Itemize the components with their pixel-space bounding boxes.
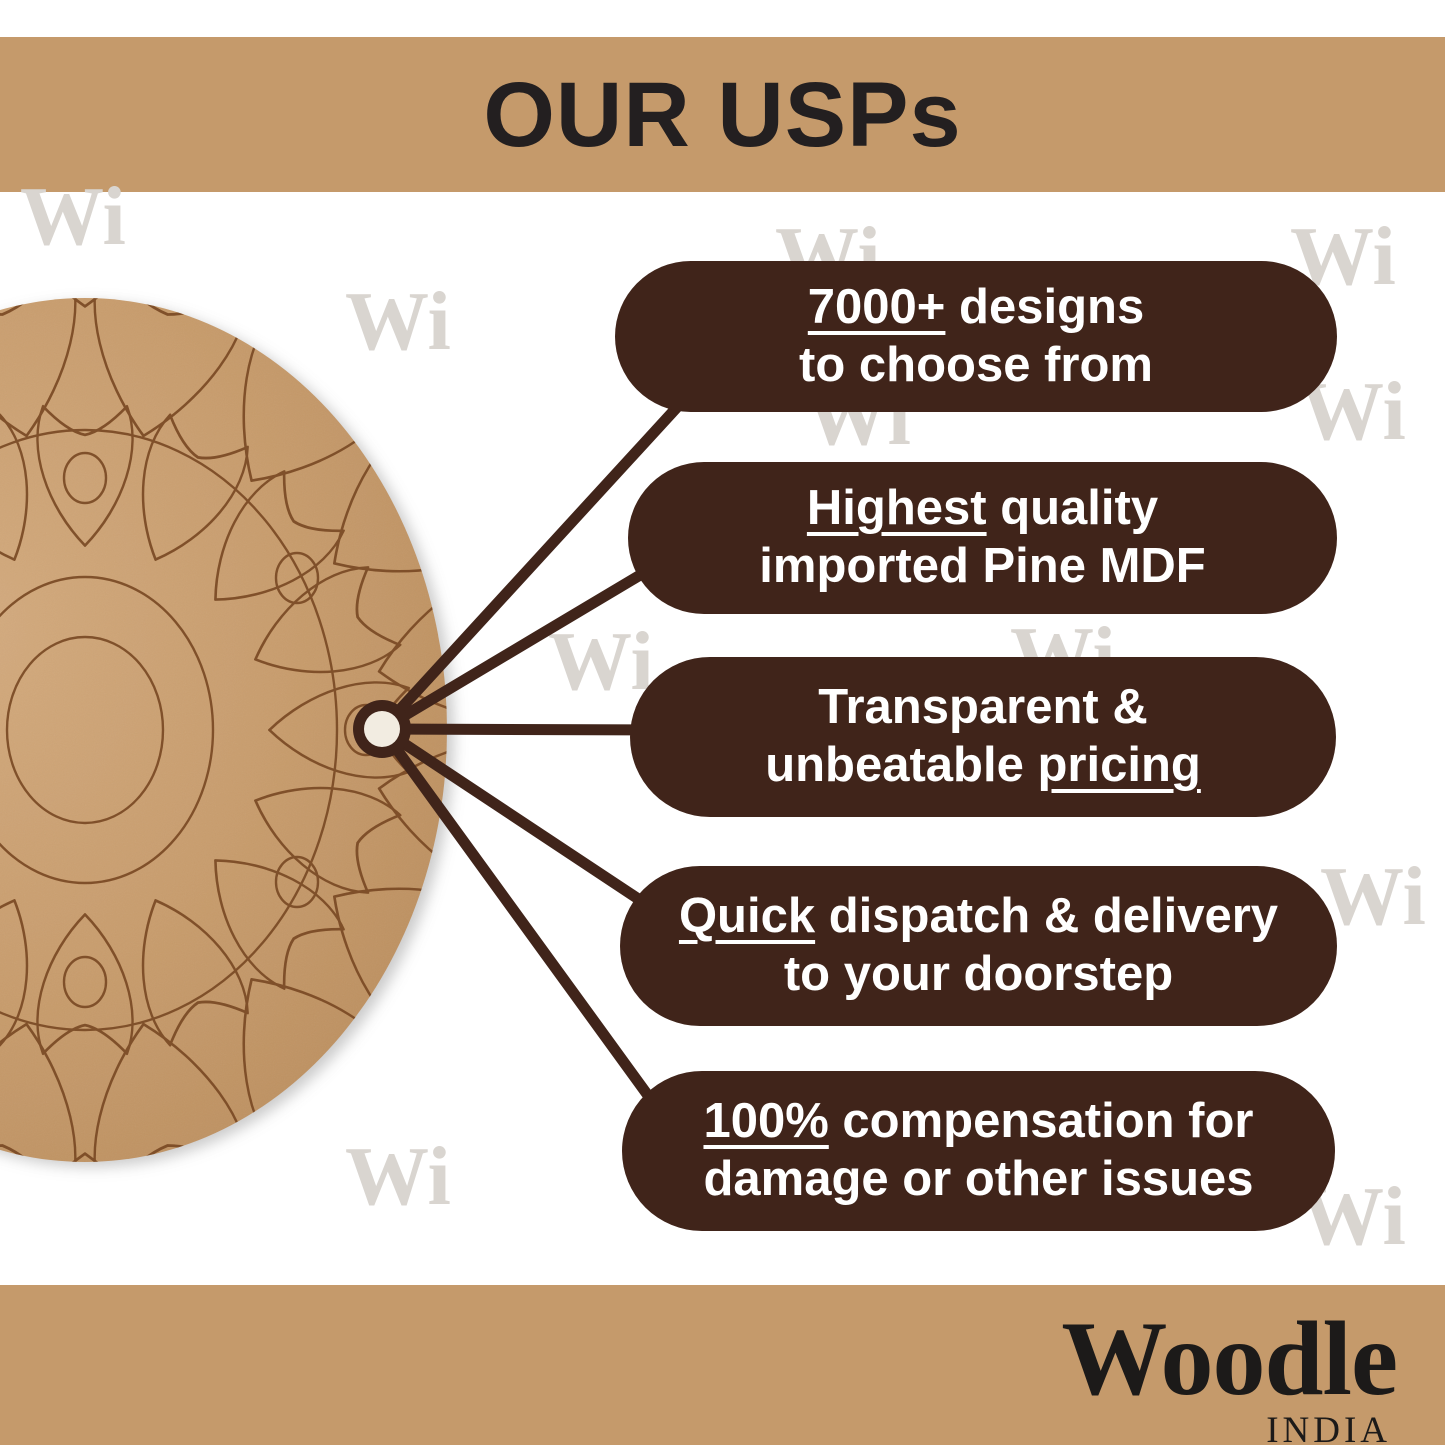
usp-pill-line: 7000+ designs [808,279,1144,337]
usp-pill-line: imported Pine MDF [759,538,1205,596]
usp-text: imported Pine MDF [759,539,1205,593]
usp-text: to choose from [799,338,1153,392]
usp-infographic: WiWiWiWiWiWiWiWiWiWiWiWi [0,0,1445,1445]
usp-pill-line: to your doorstep [784,946,1173,1004]
usp-pill-pricing[interactable]: Transparent &unbeatable pricing [630,657,1336,817]
usp-highlight-text: 100% [703,1094,828,1148]
brand-logo: Woodle INDIA [1061,1308,1397,1445]
usp-pill-line: Highest quality [807,480,1158,538]
usp-highlight-text: 7000+ [808,280,946,334]
usp-pill-line: Quick dispatch & delivery [679,888,1278,946]
usp-highlight-text: pricing [1037,738,1200,792]
usp-pill-list: 7000+ designsto choose fromHighest quali… [0,0,1445,1445]
usp-pill-line: Transparent & [818,679,1147,737]
usp-pill-line: to choose from [799,337,1153,395]
usp-pill-compensation[interactable]: 100% compensation fordamage or other iss… [622,1071,1335,1231]
usp-pill-designs[interactable]: 7000+ designsto choose from [615,261,1337,412]
usp-highlight-text: Highest [807,481,987,535]
usp-text: Transparent & [818,680,1147,734]
usp-text: dispatch & delivery [815,889,1278,943]
usp-pill-line: damage or other issues [703,1151,1253,1209]
usp-pill-line: 100% compensation for [703,1093,1253,1151]
usp-pill-line: unbeatable pricing [765,737,1201,795]
usp-pill-dispatch[interactable]: Quick dispatch & deliveryto your doorste… [620,866,1337,1026]
usp-text: quality [987,481,1159,535]
usp-text: compensation for [829,1094,1254,1148]
logo-wordmark: Woodle [1061,1308,1397,1410]
usp-pill-quality[interactable]: Highest qualityimported Pine MDF [628,462,1337,614]
usp-text: damage or other issues [703,1152,1253,1206]
usp-text: unbeatable [765,738,1037,792]
usp-text: to your doorstep [784,947,1173,1001]
usp-highlight-text: Quick [679,889,815,943]
usp-text: designs [945,280,1144,334]
